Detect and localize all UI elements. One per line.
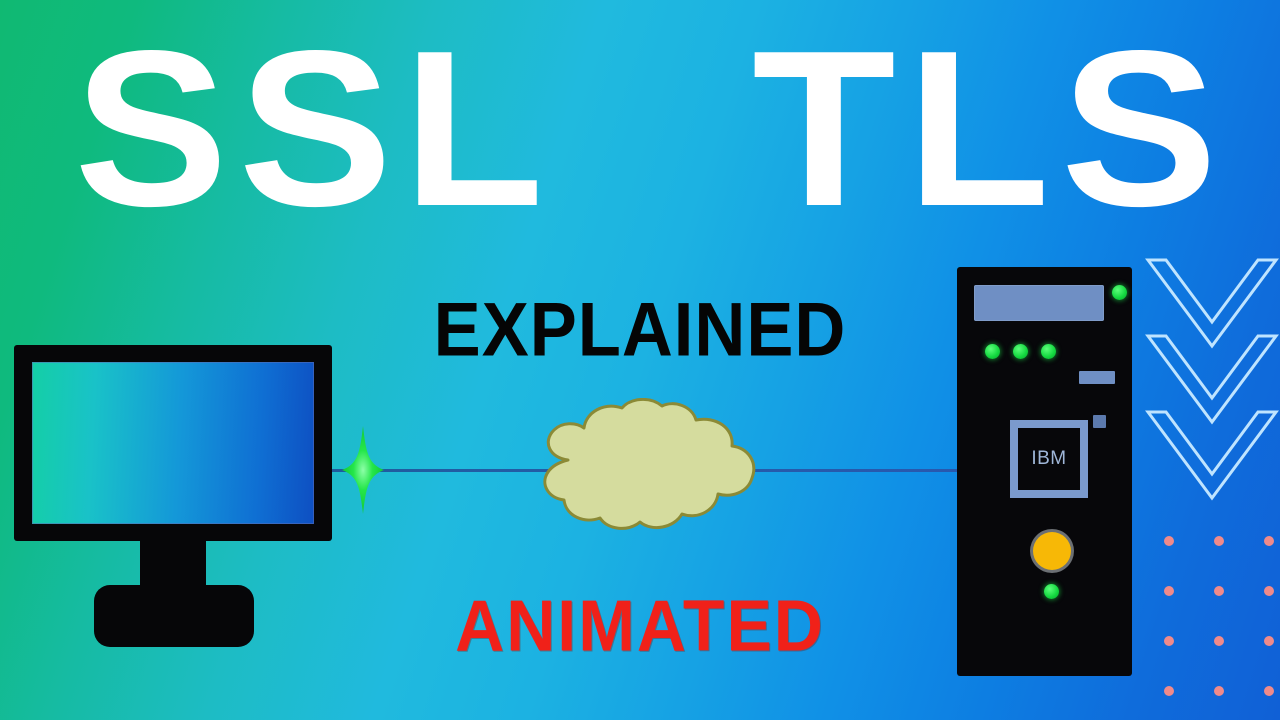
server-brand-label: IBM bbox=[1010, 420, 1088, 498]
monitor-stand-base bbox=[94, 585, 254, 647]
internet-cloud-icon bbox=[528, 398, 762, 534]
grid-dot bbox=[1164, 586, 1174, 596]
grid-dot bbox=[1164, 686, 1174, 696]
title-ssl: SSL bbox=[74, 18, 554, 240]
server-small-chip bbox=[1093, 415, 1106, 428]
monitor-screen bbox=[32, 362, 314, 524]
sparkle-icon bbox=[340, 424, 386, 516]
grid-dot bbox=[1264, 686, 1274, 696]
server-tower-icon: IBM bbox=[957, 267, 1132, 676]
grid-dot bbox=[1214, 636, 1224, 646]
grid-dot bbox=[1164, 636, 1174, 646]
grid-dot bbox=[1214, 586, 1224, 596]
chevron-down-icon-group bbox=[1142, 254, 1280, 516]
grid-dot bbox=[1214, 686, 1224, 696]
grid-dot bbox=[1264, 586, 1274, 596]
grid-dot bbox=[1164, 536, 1174, 546]
server-status-led-3 bbox=[1041, 344, 1056, 359]
client-monitor-icon bbox=[10, 342, 340, 642]
grid-dot bbox=[1264, 636, 1274, 646]
server-power-knob bbox=[1033, 532, 1071, 570]
server-power-led bbox=[1112, 285, 1127, 300]
title-tls: TLS bbox=[752, 18, 1228, 240]
server-display-panel bbox=[974, 285, 1104, 321]
server-drive-slot bbox=[1079, 371, 1115, 384]
thumbnail-canvas: SSL TLS EXPLAINED ANIMATED bbox=[0, 0, 1280, 720]
dot-grid-decoration bbox=[1158, 532, 1280, 694]
server-status-led-2 bbox=[1013, 344, 1028, 359]
server-status-led-1 bbox=[985, 344, 1000, 359]
server-status-led-4 bbox=[1044, 584, 1059, 599]
grid-dot bbox=[1264, 536, 1274, 546]
grid-dot bbox=[1214, 536, 1224, 546]
